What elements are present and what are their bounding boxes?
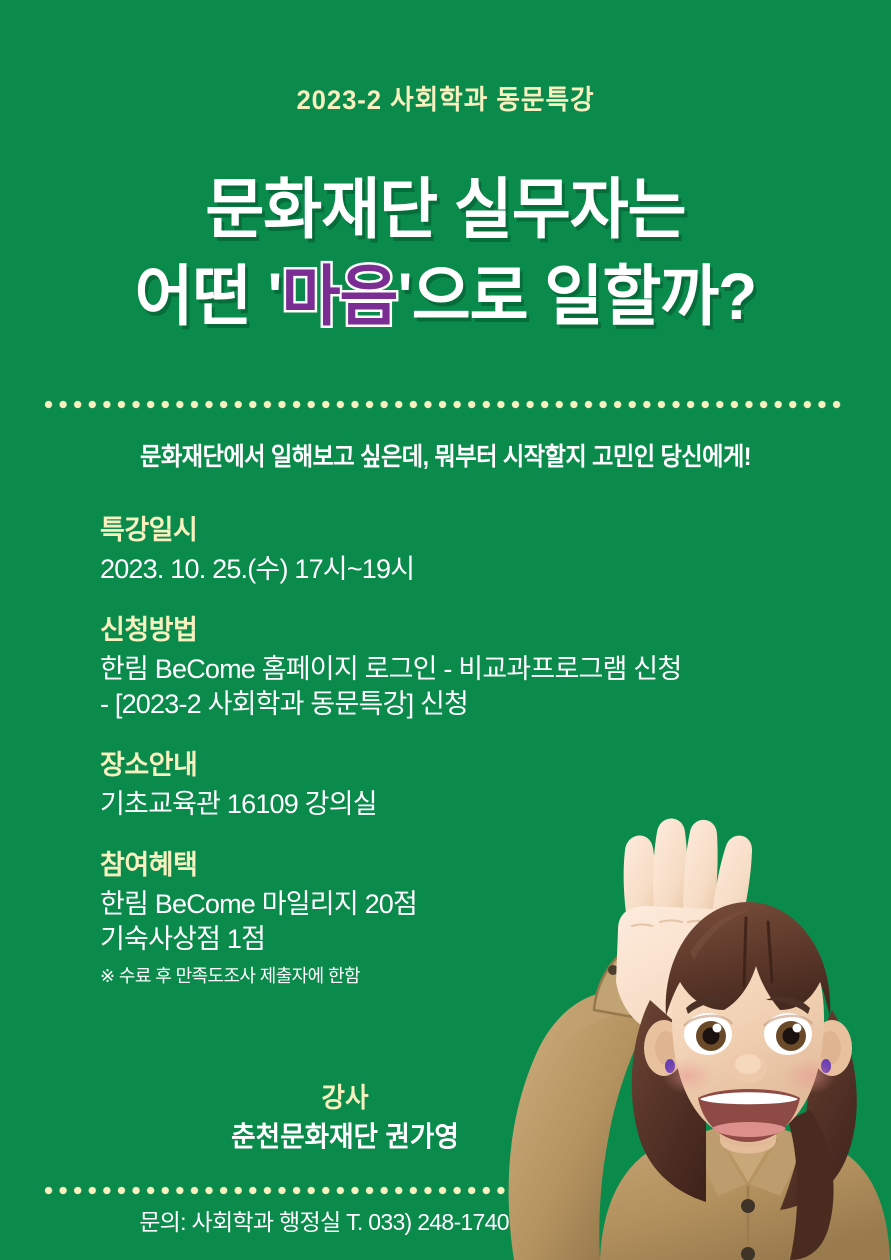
speaker-section: 강사 춘천문화재단 권가영 [0, 1082, 690, 1155]
dotted-divider-bottom [44, 1186, 551, 1195]
footer-contact: 문의: 사회학과 행정실 T. 033) 248-1740 [44, 1203, 604, 1237]
detail-line: 2023. 10. 25.(수) 17시~19시 [100, 552, 700, 587]
detail-heading: 신청방법 [100, 608, 700, 647]
headline-line-2-prefix: 어떤 ' [135, 259, 282, 333]
poster-eyebrow: 2023-2 사회학과 동문특강 [22, 78, 868, 117]
poster-headline: 문화재단 실무자는 어떤 '마음'으로 일할까? [13, 166, 877, 340]
detail-block-location: 장소안내 기초교육관 16109 강의실 [100, 743, 700, 822]
headline-line-1: 문화재단 실무자는 [13, 166, 877, 253]
detail-line: 한림 BeCome 홈페이지 로그인 - 비교과프로그램 신청 [100, 652, 700, 687]
detail-line: 기숙사상점 1점 [100, 922, 700, 957]
detail-body: 기초교육관 16109 강의실 [100, 787, 700, 822]
detail-heading: 특강일시 [100, 508, 700, 547]
speaker-label: 강사 [17, 1082, 673, 1116]
detail-block-schedule: 특강일시 2023. 10. 25.(수) 17시~19시 [100, 508, 700, 587]
poster-tagline: 문화재단에서 일해보고 싶은데, 뭐부터 시작할지 고민인 당신에게! [31, 437, 860, 473]
detail-line: - [2023-2 사회학과 동문특강] 신청 [100, 687, 700, 722]
event-poster: 2023-2 사회학과 동문특강 문화재단 실무자는 어떤 '마음'으로 일할까… [0, 0, 891, 1260]
detail-line: 기초교육관 16109 강의실 [100, 787, 700, 822]
headline-line-2-suffix: '으로 일할까? [397, 259, 756, 333]
detail-block-application: 신청방법 한림 BeCome 홈페이지 로그인 - 비교과프로그램 신청 - [… [100, 608, 700, 722]
nose [729, 1053, 767, 1083]
detail-line: 한림 BeCome 마일리지 20점 [100, 887, 700, 922]
detail-footnote: ※ 수료 후 만족도조사 제출자에 한함 [100, 962, 700, 988]
detail-heading: 참여혜택 [100, 843, 700, 882]
headline-line-2: 어떤 '마음'으로 일할까? [13, 253, 877, 340]
detail-heading: 장소안내 [100, 743, 700, 782]
detail-sections: 특강일시 2023. 10. 25.(수) 17시~19시 신청방법 한림 Be… [100, 508, 700, 988]
detail-body: 2023. 10. 25.(수) 17시~19시 [100, 552, 700, 587]
headline-accent-word: 마음 [282, 259, 398, 333]
shirt-button [741, 1199, 755, 1213]
dotted-divider-top [44, 400, 847, 409]
detail-body: 한림 BeCome 마일리지 20점 기숙사상점 1점 [100, 887, 700, 957]
detail-block-benefits: 참여혜택 한림 BeCome 마일리지 20점 기숙사상점 1점 ※ 수료 후 … [100, 843, 700, 987]
detail-body: 한림 BeCome 홈페이지 로그인 - 비교과프로그램 신청 - [2023-… [100, 652, 700, 722]
speaker-name: 춘천문화재단 권가영 [17, 1119, 673, 1155]
